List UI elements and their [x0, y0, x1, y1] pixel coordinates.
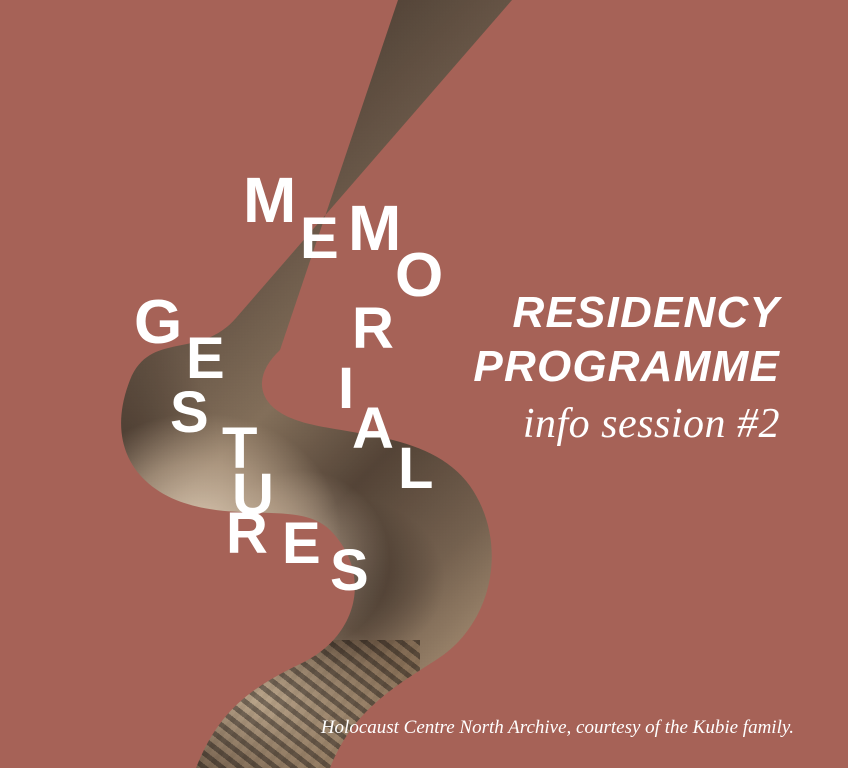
headline-block: RESIDENCY PROGRAMME info session #2: [350, 286, 780, 452]
poster-canvas: MEMORIALGESTURES RESIDENCY PROGRAMME inf…: [0, 0, 848, 768]
photo-credit: Holocaust Centre North Archive, courtesy…: [0, 716, 794, 740]
title-letter: E: [282, 515, 321, 573]
title-letter: S: [170, 384, 209, 442]
headline-line-one: RESIDENCY: [350, 286, 780, 340]
title-letter: G: [134, 292, 182, 354]
title-letter: S: [330, 542, 369, 600]
headline-subline: info session #2: [350, 396, 780, 452]
title-letter: R: [226, 505, 268, 563]
title-letter: M: [348, 196, 401, 260]
headline-line-two: PROGRAMME: [350, 340, 780, 394]
title-letter: M: [243, 168, 296, 232]
title-letter: E: [300, 210, 339, 268]
